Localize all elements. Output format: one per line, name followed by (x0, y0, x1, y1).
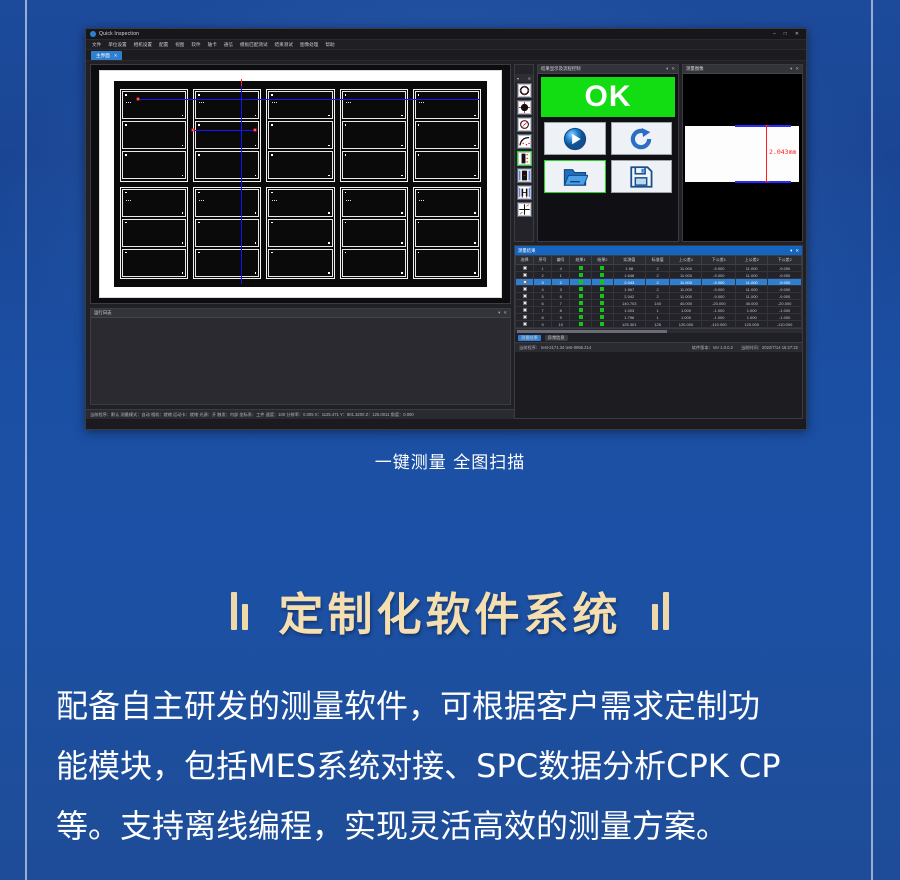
col-lower1: 下公差1 (702, 256, 736, 265)
main-status-bar: 当前程序：默认 测量模式：自动 相机：就绪 运动卡：就绪 光源：开 触发：内部 … (86, 409, 514, 419)
results-panel-title: 测量结果 (518, 248, 536, 254)
log-panel-header: 运行日志 ▾ ✕ (91, 309, 510, 318)
cell-lower1: -9.000 (702, 265, 736, 272)
col-result1: 结果1 (570, 256, 592, 265)
paragraph-line-3: 等。支持离线编程，实现灵活高效的测量方案。 (56, 796, 844, 856)
col-index: 序号 (534, 256, 552, 265)
cell-index: 9 (534, 321, 552, 328)
table-row[interactable]: 141.98211.000-9.00011.000-9.000 (516, 265, 802, 272)
run-button[interactable] (544, 122, 606, 155)
col-actual: 实测值 (613, 256, 645, 265)
menu-item-unit[interactable]: 单位设置 (108, 42, 126, 48)
menu-item-software[interactable]: 软件 (191, 42, 200, 48)
cell-standard: 2 (645, 286, 670, 293)
menu-item-comm[interactable]: 通信 (224, 42, 233, 48)
cell-upper1: 40.000 (670, 300, 702, 307)
cell-result1 (570, 293, 592, 300)
left-column: 运行日志 ▾ ✕ 当前程序：默认 测量模式：自动 相机：就绪 运动卡：就绪 光源… (86, 61, 514, 419)
menu-item-template-test[interactable]: 模板匹配测试 (240, 42, 268, 48)
status-banner: OK (541, 77, 675, 117)
table-row[interactable]: 431.967211.000-9.00011.000-9.000 (516, 286, 802, 293)
log-panel-close-icon[interactable]: ✕ (503, 310, 507, 316)
minimize-icon[interactable]: – (773, 32, 776, 37)
control-panel: 结果显示及流程控制 ▾ ✕ OK (537, 64, 679, 242)
cell-lower1: -1.000 (702, 314, 736, 321)
results-status-left: 当前程序： test-2171.34 test-0066.214 (519, 345, 591, 351)
row-select-checkbox[interactable] (516, 265, 534, 272)
col-upper1: 上公差1 (670, 256, 702, 265)
cell-upper1: 11.000 (670, 293, 702, 300)
maximize-icon[interactable]: □ (784, 32, 787, 37)
measure-node[interactable] (192, 129, 195, 132)
refresh-button[interactable] (611, 122, 673, 155)
cell-standard: 1 (645, 314, 670, 321)
cell-result2 (592, 272, 614, 279)
pcb-board (114, 81, 487, 287)
measure-node[interactable] (254, 129, 257, 132)
row-select-checkbox[interactable] (516, 293, 534, 300)
results-panel: 测量结果 ▾ ✕ 选择 序号 编号 结果1 结果2 实测值 标准值 (514, 245, 803, 419)
cell-upper1: 11.000 (670, 265, 702, 272)
cell-result1 (570, 314, 592, 321)
pcb-unit (193, 89, 261, 182)
dimension-label: 2.043mm (769, 148, 796, 156)
cell-lower2: -20.000 (768, 300, 802, 307)
cad-view-panel[interactable] (90, 64, 511, 304)
cell-lower2: -9.000 (768, 272, 802, 279)
tab-close-icon[interactable]: ✕ (114, 53, 118, 59)
cell-index: 7 (534, 307, 552, 314)
frame-line-right (871, 0, 873, 880)
pcb-unit (193, 187, 261, 280)
pcb-unit (340, 187, 408, 280)
table-header-row: 选择 序号 编号 结果1 结果2 实测值 标准值 上公差1 下公差1 上公差2 … (516, 256, 802, 265)
cell-result2 (592, 279, 614, 286)
cell-result1 (570, 307, 592, 314)
cell-actual: 125.301 (613, 321, 645, 328)
cell-actual: 140.703 (613, 300, 645, 307)
edge-marker-top (735, 125, 791, 127)
cell-lower2: -110.000 (768, 321, 802, 328)
log-panel-title: 运行日志 (94, 310, 112, 316)
app-logo-icon (90, 31, 96, 37)
log-panel: 运行日志 ▾ ✕ (90, 308, 511, 405)
dimension-line (766, 125, 767, 182)
edge-marker-bottom (735, 181, 791, 183)
menu-item-result-test[interactable]: 结果测试 (275, 42, 293, 48)
cell-lower1: -9.000 (702, 272, 736, 279)
menu-bar: 文件 单位设置 相机设置 配置 视图 软件 轴卡 通信 模板匹配测试 结果测试 … (86, 40, 806, 50)
filled-circle-tool-icon[interactable] (517, 100, 532, 115)
cell-lower1: -20.000 (702, 300, 736, 307)
cell-upper1: 120.000 (670, 321, 702, 328)
cell-actual: 1.967 (613, 286, 645, 293)
cell-result1 (570, 321, 592, 328)
cad-canvas (99, 70, 502, 298)
tool-strip-header: ▾ ✕ (515, 74, 533, 82)
control-panel-header: 结果显示及流程控制 ▾ ✕ (538, 65, 678, 74)
row-select-checkbox[interactable] (516, 307, 534, 314)
measure-tick (241, 79, 242, 86)
pcb-unit (266, 187, 334, 280)
heading-decoration-right (652, 592, 669, 630)
tool-strip-close-icon[interactable]: ✕ (528, 76, 531, 81)
bottom-tab-results[interactable]: 测量结果 (518, 335, 541, 341)
cell-index: 3 (534, 279, 552, 286)
cell-upper2: 1.000 (736, 307, 768, 314)
cell-upper1: 11.000 (670, 286, 702, 293)
software-version: 软件版本：Ver 1.0.0.2 (692, 345, 733, 351)
cell-upper1: 1.000 (670, 314, 702, 321)
measure-line-horizontal-mid (193, 130, 255, 131)
cell-code: 3 (552, 286, 570, 293)
cell-result2 (592, 307, 614, 314)
cell-code: 8 (552, 307, 570, 314)
pcb-unit (120, 187, 188, 280)
menu-item-help[interactable]: 帮助 (325, 42, 334, 48)
row-select-checkbox[interactable] (516, 314, 534, 321)
cell-result1 (570, 272, 592, 279)
cell-upper2: 11.000 (736, 279, 768, 286)
cell-result2 (592, 314, 614, 321)
menu-item-image-process[interactable]: 图像处理 (300, 42, 318, 48)
cell-standard: 125 (645, 321, 670, 328)
cell-lower2: -1.000 (768, 307, 802, 314)
cell-code: 6 (552, 293, 570, 300)
cell-index: 4 (534, 286, 552, 293)
image-panel-close-icon[interactable]: ✕ (795, 66, 799, 72)
status-left-text: 当前程序：默认 测量模式：自动 相机：就绪 运动卡：就绪 光源：开 触发：内部 … (90, 412, 414, 418)
row-select-checkbox[interactable] (516, 286, 534, 293)
cell-lower2: -1.000 (768, 314, 802, 321)
cell-actual: 1.796 (613, 314, 645, 321)
cell-code: 2 (552, 279, 570, 286)
cell-code: 7 (552, 300, 570, 307)
cell-standard: 1 (645, 307, 670, 314)
tab-main-interface[interactable]: 主界面 ✕ (91, 51, 122, 60)
cell-upper2: 1.000 (736, 314, 768, 321)
width-tool-icon[interactable] (517, 185, 532, 200)
tab-strip: 主界面 ✕ (86, 50, 806, 61)
cell-upper2: 11.000 (736, 272, 768, 279)
log-panel-pin-icon[interactable]: ▾ (498, 310, 500, 316)
cell-upper2: 120.000 (736, 321, 768, 328)
results-panel-close-icon[interactable]: ✕ (795, 248, 799, 254)
cell-upper1: 11.000 (670, 272, 702, 279)
table-row[interactable]: 322.043211.000-9.00011.000-9.000 (516, 279, 802, 286)
menu-item-axiscard[interactable]: 轴卡 (208, 42, 217, 48)
vertical-edge-tool-icon[interactable] (517, 168, 532, 183)
menu-item-view[interactable]: 视图 (175, 42, 184, 48)
pcb-unit (413, 89, 481, 182)
page-title: 定制化软件系统 (278, 578, 621, 643)
cell-lower2: -9.000 (768, 286, 802, 293)
description-paragraph: 配备自主研发的测量软件，可根据客户需求定制功 能模块，包括MES系统对接、SPC… (56, 676, 844, 856)
row-select-checkbox[interactable] (516, 300, 534, 307)
cell-index: 2 (534, 272, 552, 279)
table-row[interactable]: 910125.301125120.000-110.000120.000-110.… (516, 321, 802, 328)
cell-actual: 1.648 (613, 272, 645, 279)
right-column: ▾ ✕ (514, 61, 806, 419)
control-panel-close-icon[interactable]: ✕ (671, 66, 675, 72)
table-horizontal-scrollbar[interactable] (515, 328, 802, 333)
col-result2: 结果2 (592, 256, 614, 265)
results-bottom-tabs: 测量结果 异常信息 (515, 333, 802, 342)
cell-index: 6 (534, 300, 552, 307)
control-panel-title: 结果显示及流程控制 (541, 66, 581, 72)
current-time: 当前时间：2022/7/14 15:27:22 (741, 345, 798, 351)
cell-index: 5 (534, 293, 552, 300)
measurement-image-panel: 测量图像 ▾ ✕ 2.043mm (682, 64, 803, 242)
cell-actual: 1.98 (613, 265, 645, 272)
cell-lower1: -9.000 (702, 286, 736, 293)
results-table-body: 141.98211.000-9.00011.000-9.000211.64821… (516, 265, 802, 328)
tab-label: 主界面 (96, 53, 110, 59)
window-titlebar: Quick Inspection – □ ✕ (86, 29, 806, 40)
pcb-unit (266, 89, 334, 182)
image-panel-title: 测量图像 (686, 66, 704, 72)
control-panel-pin-icon[interactable]: ▾ (666, 66, 668, 72)
cell-result1 (570, 265, 592, 272)
cell-lower1: -110.000 (702, 321, 736, 328)
cell-result2 (592, 300, 614, 307)
cell-code: 9 (552, 314, 570, 321)
cell-lower1: -9.000 (702, 293, 736, 300)
pcb-unit (413, 187, 481, 280)
image-panel-pin-icon[interactable]: ▾ (790, 66, 792, 72)
cell-lower2: -9.000 (768, 279, 802, 286)
cell-upper2: 11.000 (736, 293, 768, 300)
cell-actual: 2.043 (613, 279, 645, 286)
table-row[interactable]: 781.00311.000-1.0001.000-1.000 (516, 307, 802, 314)
cell-result2 (592, 265, 614, 272)
table-row[interactable]: 562.042211.000-9.00011.000-9.000 (516, 293, 802, 300)
paragraph-line-2: 能模块，包括MES系统对接、SPC数据分析CPK CP (56, 736, 844, 796)
window-title: Quick Inspection (99, 31, 139, 37)
results-table[interactable]: 选择 序号 编号 结果1 结果2 实测值 标准值 上公差1 下公差1 上公差2 … (515, 255, 802, 328)
results-panel-header: 测量结果 ▾ ✕ (515, 246, 802, 255)
frame-line-left (25, 0, 27, 880)
row-select-checkbox[interactable] (516, 272, 534, 279)
cell-upper2: 11.000 (736, 286, 768, 293)
measure-line-vertical (241, 84, 242, 284)
cell-result2 (592, 286, 614, 293)
heading-decoration-left (231, 592, 248, 630)
tool-strip-pin-icon[interactable]: ▾ (517, 76, 519, 81)
cell-upper1: 1.000 (670, 307, 702, 314)
cell-actual: 2.042 (613, 293, 645, 300)
bottom-tab-errors[interactable]: 异常信息 (545, 335, 568, 341)
table-row[interactable]: 67140.70314040.000-20.00040.000-20.000 (516, 300, 802, 307)
cell-lower1: -9.000 (702, 279, 736, 286)
results-panel-pin-icon[interactable]: ▾ (790, 248, 792, 254)
arc-tool-icon[interactable] (517, 134, 532, 149)
measure-node[interactable] (137, 98, 140, 101)
circle-ring-tool-icon[interactable] (517, 83, 532, 98)
table-row[interactable]: 891.79611.000-1.0001.000-1.000 (516, 314, 802, 321)
action-button-grid (538, 120, 678, 197)
cell-actual: 1.003 (613, 307, 645, 314)
cell-result2 (592, 321, 614, 328)
cell-standard: 2 (645, 293, 670, 300)
screenshot-caption: 一键测量 全图扫描 (0, 448, 900, 473)
menu-item-camera[interactable]: 相机设置 (134, 42, 152, 48)
pcb-unit (340, 89, 408, 182)
col-select: 选择 (516, 256, 534, 265)
measurement-image-view[interactable]: 2.043mm (683, 74, 802, 241)
cell-standard: 2 (645, 279, 670, 286)
pcb-unit-grid (120, 89, 481, 279)
crosshair-tool-icon[interactable] (517, 202, 532, 217)
cell-result1 (570, 279, 592, 286)
row-select-checkbox[interactable] (516, 321, 534, 328)
cell-result1 (570, 300, 592, 307)
cell-result2 (592, 293, 614, 300)
log-body (91, 318, 510, 404)
cell-standard: 2 (645, 272, 670, 279)
cell-upper2: 40.000 (736, 300, 768, 307)
cell-index: 8 (534, 314, 552, 321)
application-window: Quick Inspection – □ ✕ 文件 单位设置 相机设置 配置 视… (85, 28, 807, 430)
col-code: 编号 (552, 256, 570, 265)
table-row[interactable]: 211.648211.000-9.00011.000-9.000 (516, 272, 802, 279)
col-upper2: 上公差2 (736, 256, 768, 265)
menu-item-config[interactable]: 配置 (159, 42, 168, 48)
cell-upper2: 11.000 (736, 265, 768, 272)
circle-points-tool-icon[interactable] (517, 117, 532, 132)
close-icon[interactable]: ✕ (795, 32, 799, 37)
cell-index: 1 (534, 265, 552, 272)
top-row: ▾ ✕ (514, 64, 803, 242)
pcb-unit (120, 89, 188, 182)
cell-code: 4 (552, 265, 570, 272)
cell-lower1: -1.000 (702, 307, 736, 314)
row-select-checkbox[interactable] (516, 279, 534, 286)
cell-result1 (570, 286, 592, 293)
cell-code: 10 (552, 321, 570, 328)
section-heading: 定制化软件系统 (0, 578, 900, 643)
rect-edge-tool-icon[interactable] (517, 151, 532, 166)
cell-standard: 140 (645, 300, 670, 307)
cell-upper1: 11.000 (670, 279, 702, 286)
status-banner-text: OK (585, 82, 632, 112)
save-button[interactable] (611, 160, 673, 193)
menu-item-file[interactable]: 文件 (92, 42, 101, 48)
workspace: 运行日志 ▾ ✕ 当前程序：默认 测量模式：自动 相机：就绪 运动卡：就绪 光源… (86, 61, 806, 419)
cell-standard: 2 (645, 265, 670, 272)
paragraph-line-1: 配备自主研发的测量软件，可根据客户需求定制功 (56, 676, 844, 736)
measurement-tool-strip: ▾ ✕ (514, 64, 534, 242)
image-panel-header: 测量图像 ▾ ✕ (683, 65, 802, 74)
measure-line-horizontal-top (138, 99, 479, 100)
window-controls: – □ ✕ (773, 32, 802, 37)
col-standard: 标准值 (645, 256, 670, 265)
cell-lower2: -9.000 (768, 293, 802, 300)
cell-code: 1 (552, 272, 570, 279)
cell-lower2: -9.000 (768, 265, 802, 272)
open-button[interactable] (544, 160, 606, 193)
col-lower2: 下公差2 (768, 256, 802, 265)
results-status-bar: 当前程序： test-2171.34 test-0066.214 软件版本：Ve… (515, 342, 802, 352)
